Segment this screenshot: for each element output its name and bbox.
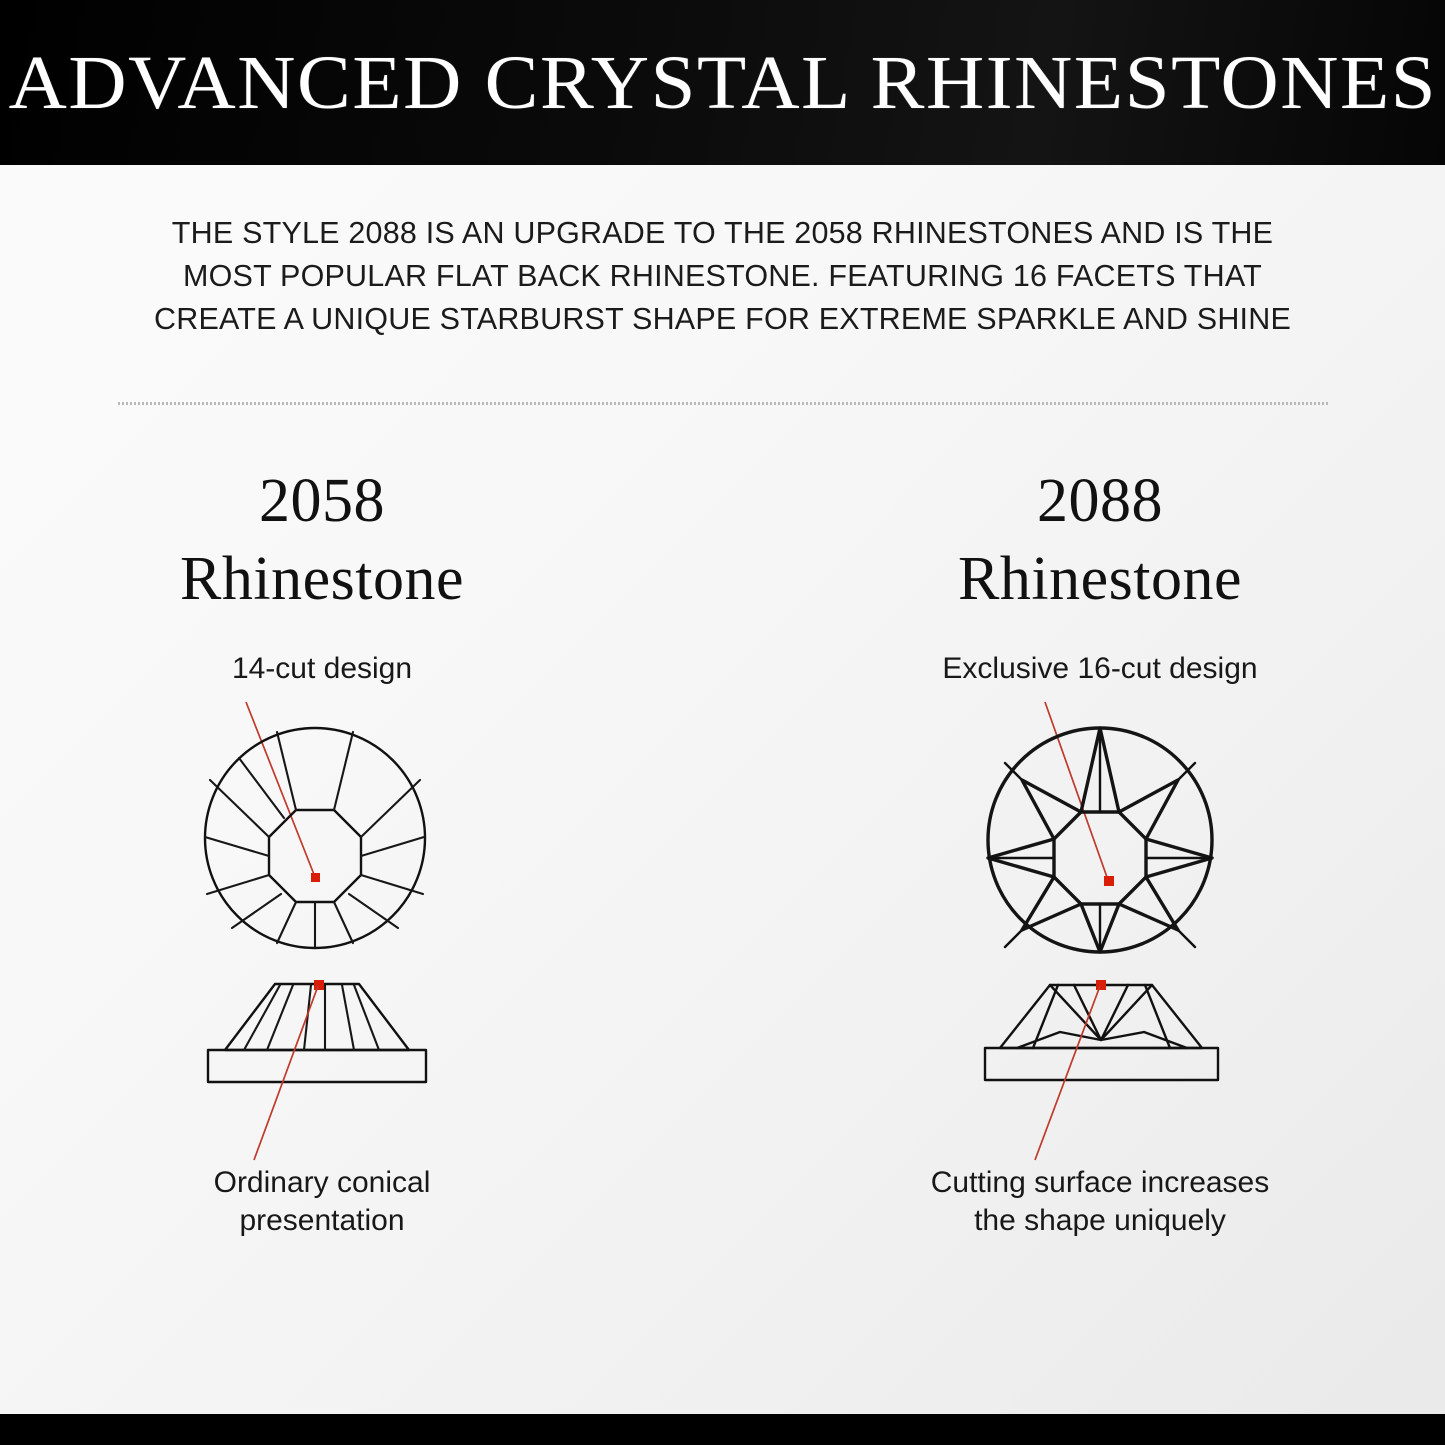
intro-line-1: THE STYLE 2088 IS AN UPGRADE TO THE 2058… [95,212,1350,255]
stone-word-2088: Rhinestone [800,540,1400,618]
stone-code-2058: 2058 [22,462,622,540]
side-view-2088 [985,980,1218,1160]
stone-code-2088: 2088 [800,462,1400,540]
page-title: ADVANCED CRYSTAL RHINESTONES [8,45,1437,121]
stone-word-2058: Rhinestone [22,540,622,618]
base-slab-2088 [985,1048,1218,1080]
cone-body-2058 [225,984,409,1050]
leader-dot-top-2088 [1104,876,1114,886]
top-view-2088 [988,728,1212,952]
comparison-column-2088: 2088 Rhinestone Exclusive 16-cut design [800,462,1400,1280]
base-slab-2058 [208,1050,426,1082]
header-banner: ADVANCED CRYSTAL RHINESTONES [0,0,1445,165]
label-16-cut-design: Exclusive 16-cut design [942,652,1257,685]
leader-line-side-2058 [254,986,318,1160]
stone-heading-2058: 2058 Rhinestone [22,462,622,618]
section-divider [118,402,1328,405]
caption-2088-line1: Cutting surface increases [931,1166,1270,1199]
figure-2088: Exclusive 16-cut design [800,640,1400,1280]
caption-2058-line1: Ordinary conical [214,1166,431,1199]
top-view-2058 [205,728,425,948]
stone-table-octagon-2058 [269,810,361,902]
leader-line-side-2088 [1035,986,1100,1160]
side-view-2058 [208,980,426,1160]
stone-heading-2088: 2088 Rhinestone [800,462,1400,618]
leader-dot-top-2058 [311,873,320,882]
leader-dot-side-2088 [1096,980,1106,990]
cone-facets-2058 [244,985,379,1050]
label-14-cut-design: 14-cut design [232,652,412,685]
footer-bar [0,1414,1445,1445]
intro-paragraph: THE STYLE 2088 IS AN UPGRADE TO THE 2058… [95,212,1350,341]
comparison-column-2058: 2058 Rhinestone 14-cut design [22,462,622,1280]
intro-line-3: CREATE A UNIQUE STARBURST SHAPE FOR EXTR… [95,298,1350,341]
intro-line-2: MOST POPULAR FLAT BACK RHINESTONE. FEATU… [95,255,1350,298]
figure-2058: 14-cut design [22,640,622,1280]
caption-2088-line2: the shape uniquely [974,1204,1226,1237]
caption-2058-line2: presentation [239,1204,404,1237]
leader-dot-side-2058 [314,980,324,990]
product-infographic: ADVANCED CRYSTAL RHINESTONES THE STYLE 2… [0,0,1445,1445]
